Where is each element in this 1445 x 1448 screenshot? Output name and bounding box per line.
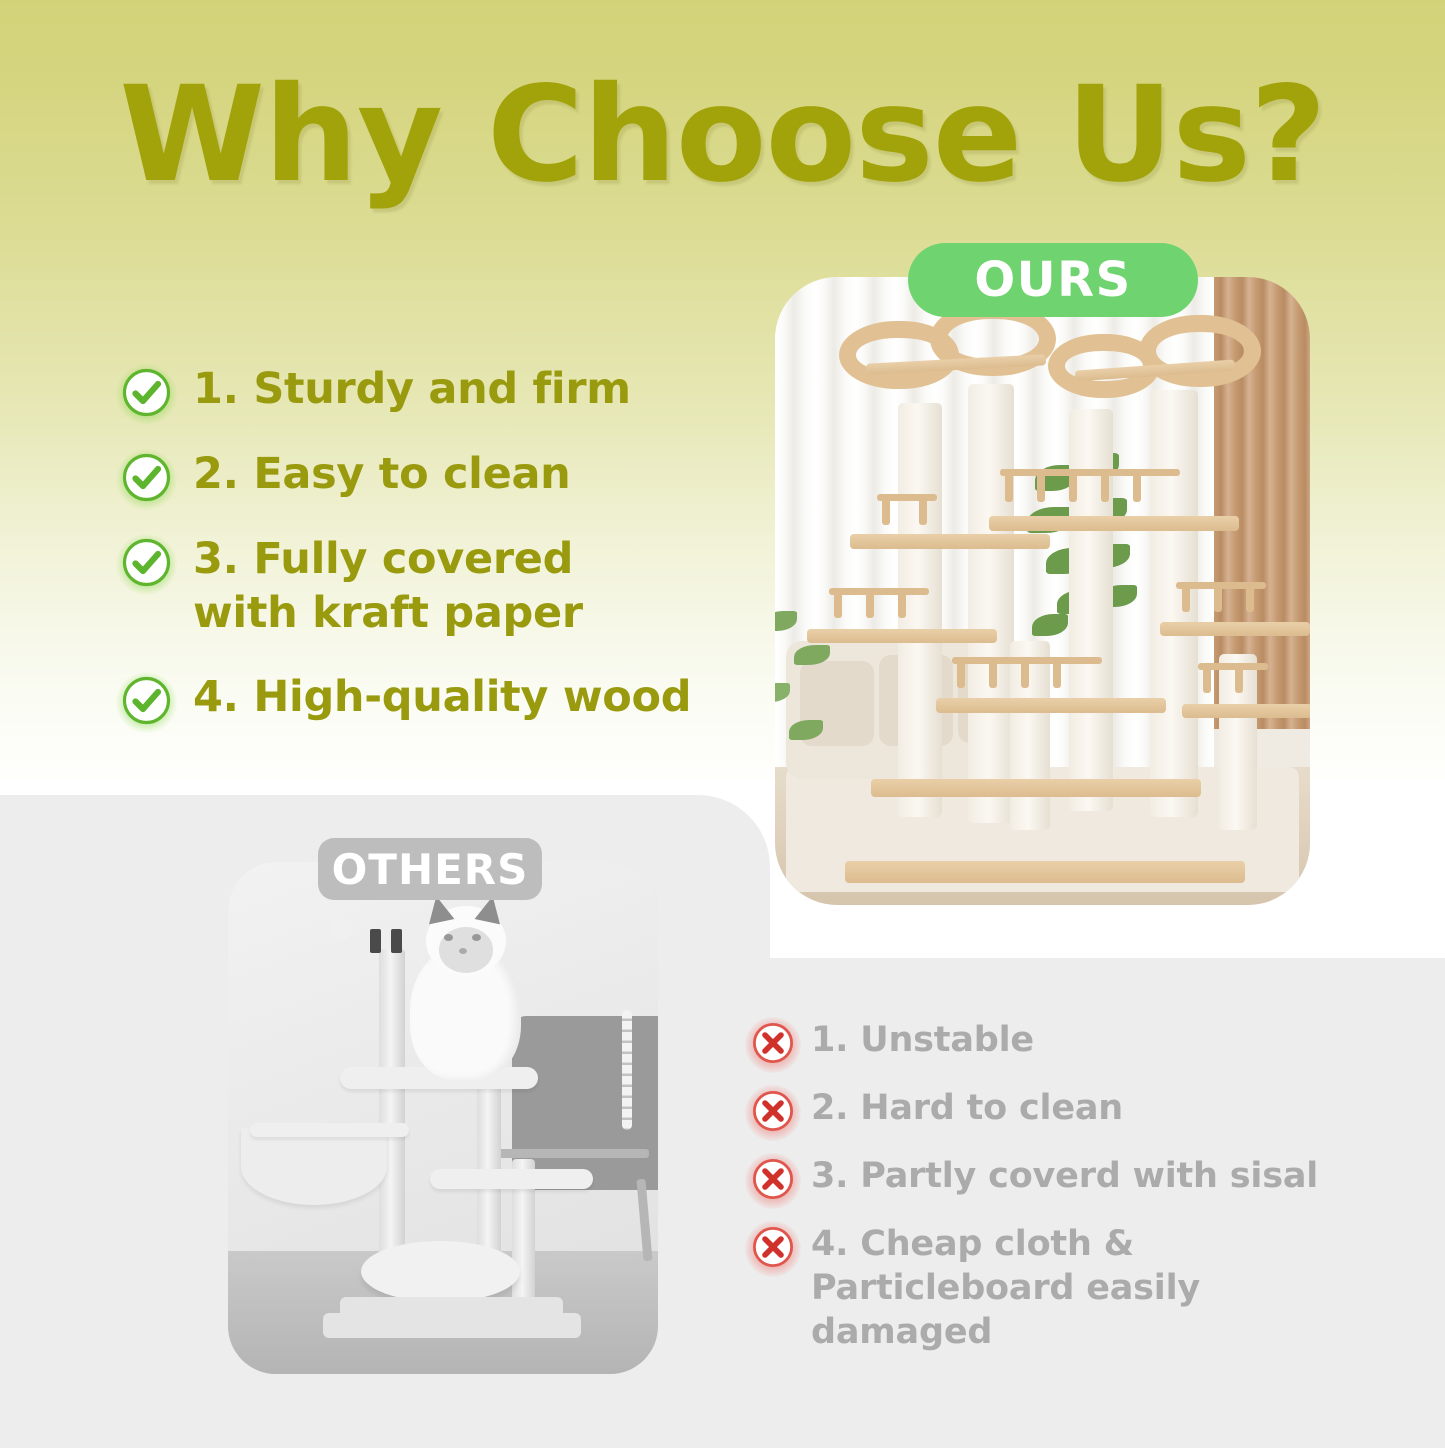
list-item: 1. Sturdy and firm [122, 362, 742, 417]
pro-item-label: 4. High-quality wood [193, 670, 691, 724]
con-item-label: 3. Partly coverd with sisal [811, 1154, 1318, 1198]
list-item: 4. High-quality wood [122, 670, 742, 725]
others-badge-label: OTHERS [332, 845, 529, 894]
check-circle-icon [122, 368, 171, 417]
con-item-label: 4. Cheap cloth & Particleboard easily da… [811, 1222, 1391, 1354]
con-item-label: 1. Unstable [811, 1018, 1034, 1062]
x-circle-icon [752, 1226, 794, 1268]
x-circle-icon [752, 1158, 794, 1200]
ours-badge-label: OURS [974, 252, 1131, 308]
pros-list: 1. Sturdy and firm 2. Easy to clean 3. F… [122, 362, 742, 725]
list-item: 2. Hard to clean [752, 1086, 1412, 1132]
list-item: 1. Unstable [752, 1018, 1412, 1064]
page-title: Why Choose Us? [0, 58, 1445, 212]
cons-list: 1. Unstable 2. Hard to clean 3. Partly c… [752, 1018, 1412, 1354]
pro-item-label: 1. Sturdy and firm [193, 362, 631, 416]
check-circle-icon [122, 453, 171, 502]
x-circle-icon [752, 1022, 794, 1064]
list-item: 3. Partly coverd with sisal [752, 1154, 1412, 1200]
con-item-label: 2. Hard to clean [811, 1086, 1123, 1130]
list-item: 3. Fully covered with kraft paper [122, 532, 742, 640]
x-circle-icon [752, 1090, 794, 1132]
list-item: 4. Cheap cloth & Particleboard easily da… [752, 1222, 1412, 1354]
pro-item-label: 2. Easy to clean [193, 447, 571, 501]
others-product-image [228, 862, 658, 1374]
list-item: 2. Easy to clean [122, 447, 742, 502]
check-circle-icon [122, 676, 171, 725]
others-badge: OTHERS [318, 838, 542, 900]
pro-item-label: 3. Fully covered with kraft paper [193, 532, 663, 640]
ours-badge: OURS [908, 243, 1198, 317]
check-circle-icon [122, 538, 171, 587]
ours-product-image [775, 277, 1310, 905]
